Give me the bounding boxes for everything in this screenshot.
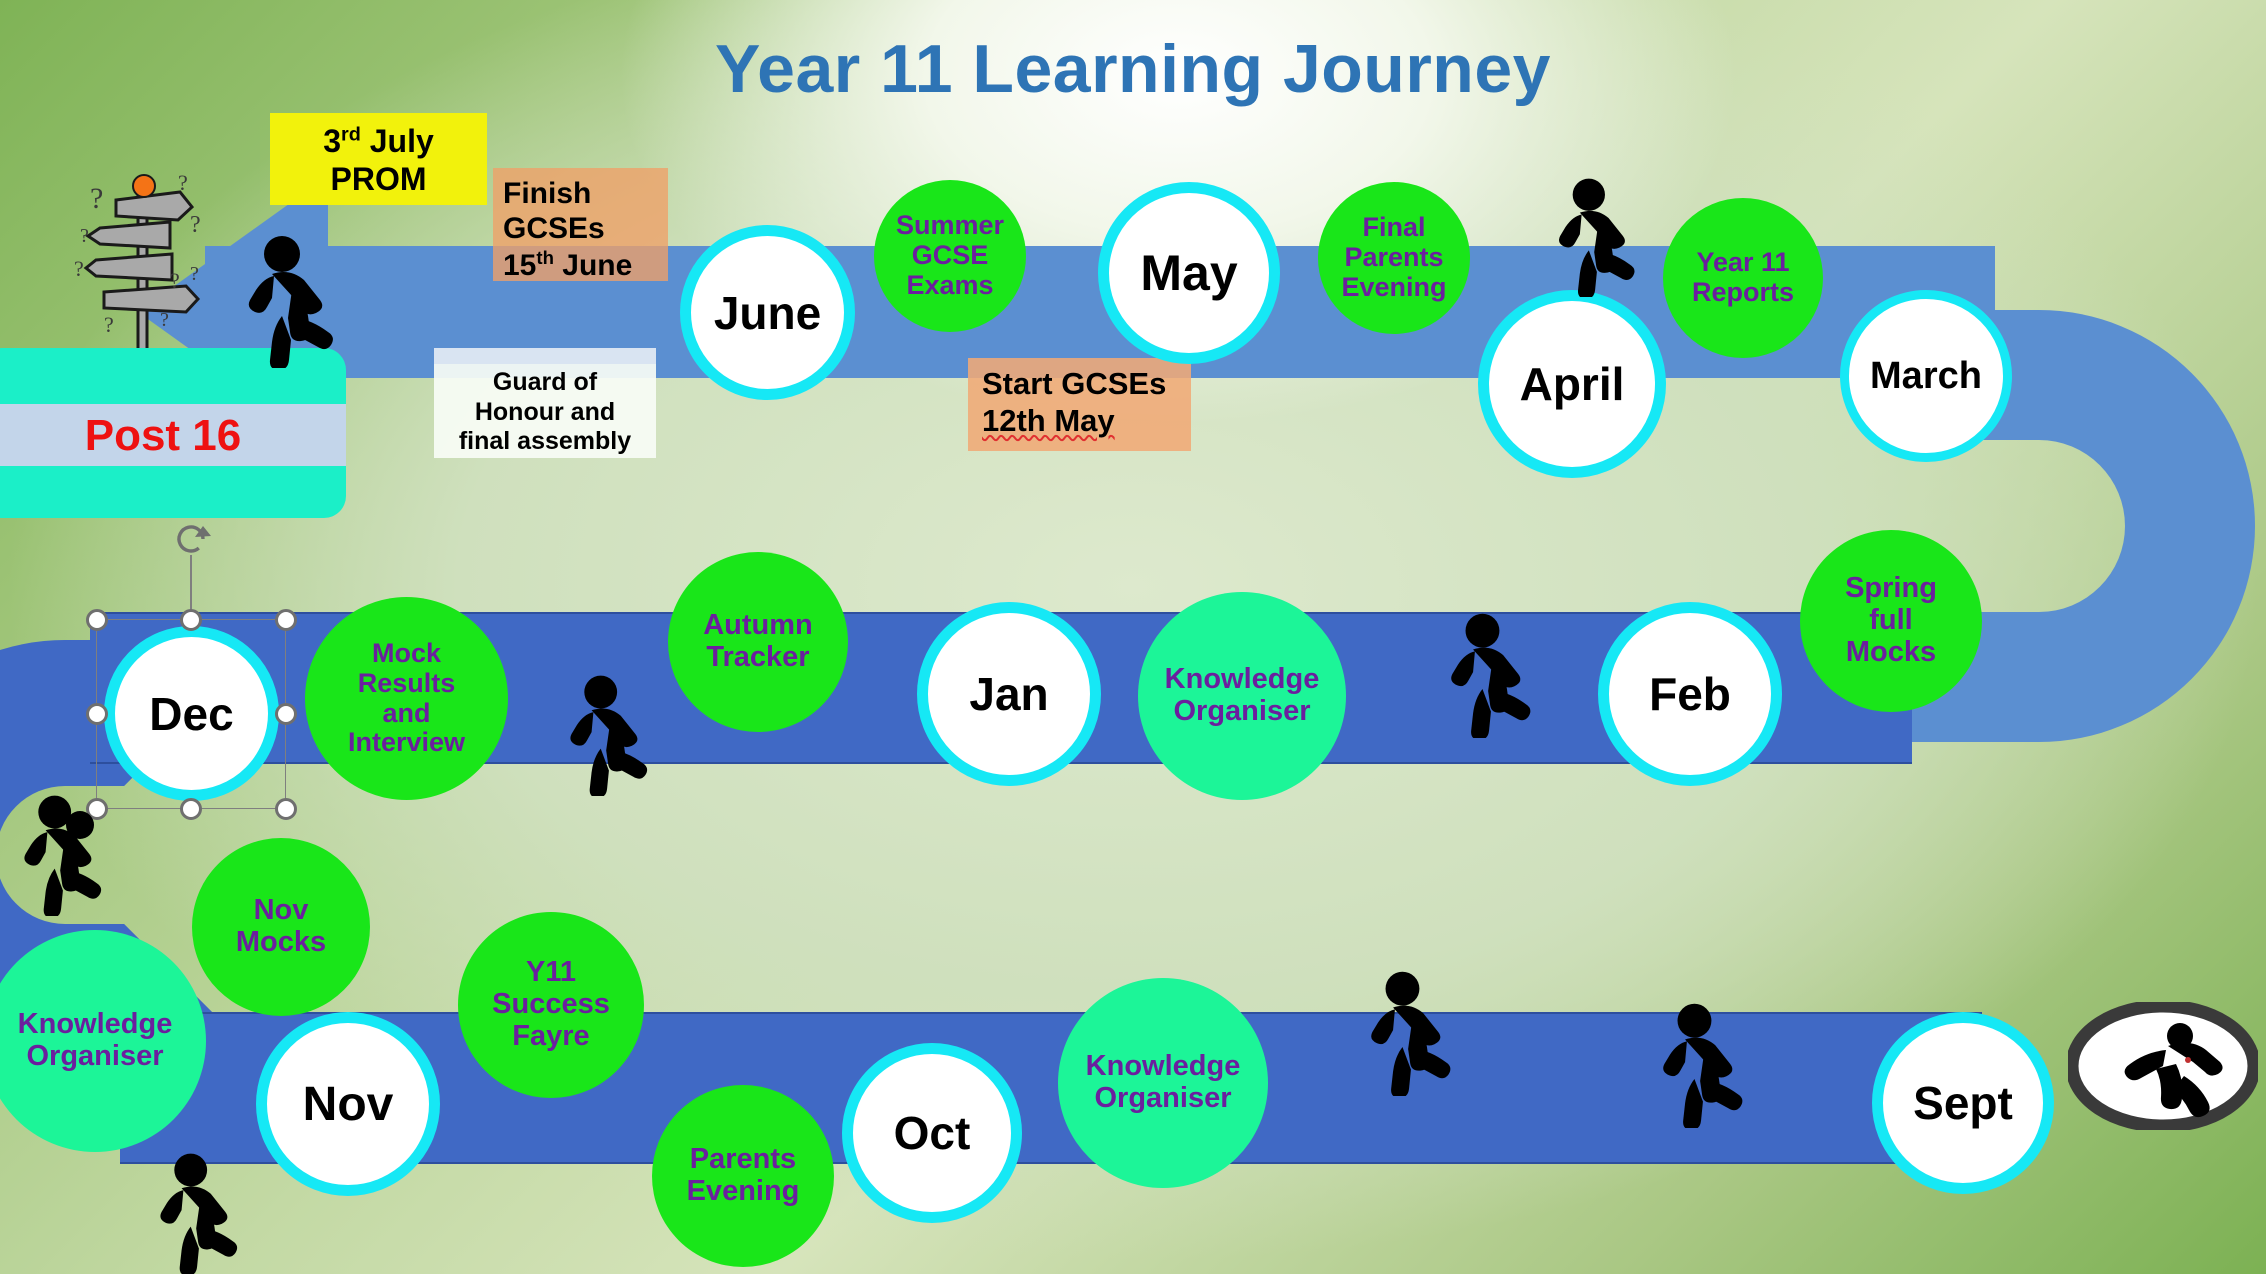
post-16-label: Post 16 bbox=[0, 406, 346, 466]
month-node-may[interactable]: May bbox=[1098, 182, 1280, 364]
event-summer-gcse-exams[interactable]: Summer GCSE Exams bbox=[874, 180, 1026, 332]
prom-month: July bbox=[361, 123, 434, 159]
event-spring-full-mocks[interactable]: Spring full Mocks bbox=[1800, 530, 1982, 712]
selection-frame bbox=[96, 619, 286, 809]
event-line-3: Fayre bbox=[492, 1021, 610, 1053]
month-node-march[interactable]: March bbox=[1840, 290, 2012, 462]
guard-line1: Guard of bbox=[434, 368, 656, 398]
resize-handle-ne[interactable] bbox=[275, 609, 297, 631]
event-line-1: Knowledge bbox=[1086, 1051, 1241, 1083]
rotate-handle-icon[interactable] bbox=[170, 518, 212, 560]
event-autumn-tracker[interactable]: Autumn Tracker bbox=[668, 552, 848, 732]
start-runner-badge-icon bbox=[2068, 1002, 2258, 1130]
event-line-3: and bbox=[348, 699, 465, 729]
event-line-2: Parents bbox=[1341, 243, 1446, 273]
callout-prom[interactable]: 3rd July PROM bbox=[270, 113, 487, 205]
runner-icon bbox=[14, 792, 110, 916]
svg-text:?: ? bbox=[160, 309, 169, 331]
page-title: Year 11 Learning Journey bbox=[0, 30, 2266, 108]
event-line-1: Spring bbox=[1845, 573, 1937, 605]
event-y11-success-fayre[interactable]: Y11 Success Fayre bbox=[458, 912, 644, 1098]
event-line-1: Mock bbox=[348, 639, 465, 669]
event-line-2: Reports bbox=[1692, 278, 1794, 308]
event-line-2: Success bbox=[492, 989, 610, 1021]
event-line-2: Mocks bbox=[236, 927, 326, 959]
callout-guard-of-honour[interactable]: Guard of Honour and final assembly bbox=[434, 348, 656, 458]
event-parents-evening[interactable]: Parents Evening bbox=[652, 1085, 834, 1267]
svg-text:?: ? bbox=[104, 312, 114, 337]
svg-text:?: ? bbox=[90, 182, 103, 215]
event-line-1: Knowledge bbox=[18, 1009, 173, 1041]
resize-handle-w[interactable] bbox=[86, 703, 108, 725]
callout-finish-gcses[interactable]: Finish GCSEs 15th June bbox=[493, 168, 668, 281]
event-line-2: Organiser bbox=[18, 1041, 173, 1073]
event-knowledge-organiser-feb[interactable]: Knowledge Organiser bbox=[1138, 592, 1346, 800]
event-line-1: Year 11 bbox=[1692, 248, 1794, 278]
month-node-oct[interactable]: Oct bbox=[842, 1043, 1022, 1223]
svg-text:?: ? bbox=[74, 256, 84, 281]
event-line-4: Interview bbox=[348, 728, 465, 758]
svg-text:?: ? bbox=[170, 268, 180, 293]
event-line-1: Summer bbox=[896, 211, 1004, 241]
event-line-2: Tracker bbox=[703, 642, 813, 674]
callout-start-gcses[interactable]: Start GCSEs 12th May bbox=[968, 358, 1191, 451]
event-line-1: Final bbox=[1341, 213, 1446, 243]
finish-line2: GCSEs bbox=[503, 211, 668, 246]
runner-icon bbox=[560, 672, 656, 796]
event-line-3: Exams bbox=[896, 271, 1004, 301]
guard-line2: Honour and bbox=[434, 398, 656, 428]
event-mock-results-and-interview[interactable]: Mock Results and Interview bbox=[305, 597, 508, 800]
event-line-2: Organiser bbox=[1086, 1083, 1241, 1115]
resize-handle-se[interactable] bbox=[275, 798, 297, 820]
event-nov-mocks[interactable]: Nov Mocks bbox=[192, 838, 370, 1016]
month-node-april[interactable]: April bbox=[1478, 290, 1666, 478]
event-final-parents-evening[interactable]: Final Parents Evening bbox=[1318, 182, 1470, 334]
runner-icon bbox=[1548, 175, 1644, 297]
event-line-1: Y11 bbox=[492, 957, 610, 989]
resize-handle-e[interactable] bbox=[275, 703, 297, 725]
resize-handle-s[interactable] bbox=[180, 798, 202, 820]
signpost-with-question-marks-icon: ? ? ? ? ? ? ? ? ? bbox=[74, 168, 214, 358]
svg-text:?: ? bbox=[190, 263, 199, 285]
runner-icon bbox=[1440, 610, 1540, 738]
event-line-1: Parents bbox=[687, 1144, 800, 1176]
svg-text:?: ? bbox=[178, 170, 188, 195]
runner-icon bbox=[1360, 968, 1460, 1096]
resize-handle-nw[interactable] bbox=[86, 609, 108, 631]
event-line-2: Organiser bbox=[1165, 696, 1320, 728]
runner-icon bbox=[1652, 1000, 1752, 1128]
month-node-nov[interactable]: Nov bbox=[256, 1012, 440, 1196]
event-line-3: Evening bbox=[1341, 273, 1446, 303]
event-line-1: Nov bbox=[236, 895, 326, 927]
event-line-2: GCSE bbox=[896, 241, 1004, 271]
event-year-11-reports[interactable]: Year 11 Reports bbox=[1663, 198, 1823, 358]
start-line2: 12th May bbox=[982, 403, 1115, 440]
runner-icon bbox=[238, 232, 342, 368]
start-line1: Start GCSEs bbox=[982, 366, 1191, 403]
slide-canvas[interactable]: Year 11 Learning Journey ? ? ? ? ? ? ? ?… bbox=[0, 0, 2266, 1274]
finish-day: 15 bbox=[503, 249, 536, 282]
event-line-2: Results bbox=[348, 669, 465, 699]
month-node-jan[interactable]: Jan bbox=[917, 602, 1101, 786]
event-line-2: Evening bbox=[687, 1176, 800, 1208]
guard-line3: final assembly bbox=[434, 427, 656, 457]
finish-line1: Finish bbox=[503, 176, 668, 211]
event-line-1: Knowledge bbox=[1165, 664, 1320, 696]
svg-text:?: ? bbox=[190, 212, 201, 238]
month-node-feb[interactable]: Feb bbox=[1598, 602, 1782, 786]
month-node-sept[interactable]: Sept bbox=[1872, 1012, 2054, 1194]
event-line-1: Autumn bbox=[703, 610, 813, 642]
runner-icon bbox=[150, 1150, 246, 1274]
finish-month: June bbox=[554, 249, 632, 282]
svg-text:?: ? bbox=[80, 225, 89, 247]
event-line-2: full bbox=[1845, 605, 1937, 637]
resize-handle-n[interactable] bbox=[180, 609, 202, 631]
event-knowledge-organiser-oct[interactable]: Knowledge Organiser bbox=[1058, 978, 1268, 1188]
prom-ordinal: rd bbox=[341, 123, 361, 145]
event-line-3: Mocks bbox=[1845, 637, 1937, 669]
month-node-june[interactable]: June bbox=[680, 225, 855, 400]
prom-label: PROM bbox=[270, 161, 487, 199]
prom-day: 3 bbox=[323, 123, 341, 159]
finish-ordinal: th bbox=[536, 247, 554, 268]
